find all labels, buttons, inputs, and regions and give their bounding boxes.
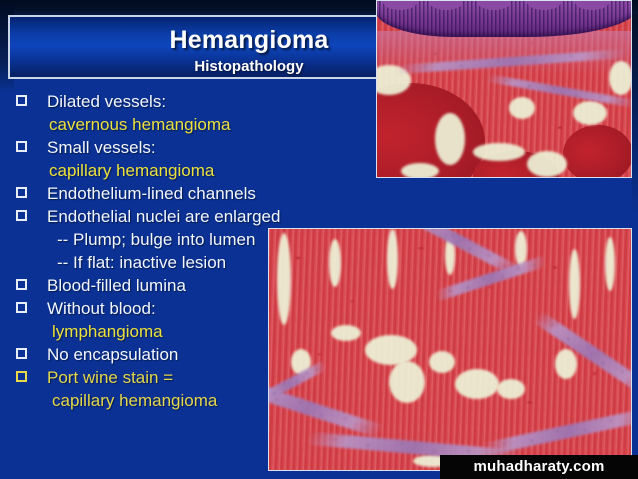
- vascular-lumen: [429, 351, 455, 373]
- list-item-label: Small vessels:: [47, 136, 156, 159]
- list-item: Endothelial nuclei are enlarged: [16, 205, 278, 228]
- list-sub-item-label: -- If flat: inactive lesion: [57, 251, 226, 274]
- slide: Hemangioma Histopathology Dilated vessel…: [0, 0, 638, 479]
- list-item: Endothelium-lined channels: [16, 182, 278, 205]
- list-item-label: Endothelial nuclei are enlarged: [47, 205, 280, 228]
- background-right-shadow: [632, 14, 638, 214]
- vascular-lumen: [573, 101, 607, 125]
- list-item-label: lymphangioma: [52, 320, 163, 343]
- vascular-lumen: [555, 349, 577, 379]
- vascular-lumen: [435, 113, 465, 165]
- vascular-lumen: [387, 229, 398, 289]
- list-sub-item: -- If flat: inactive lesion: [16, 251, 278, 274]
- list-item-label: cavernous hemangioma: [49, 113, 230, 136]
- list-item: No encapsulation: [16, 343, 278, 366]
- square-bullet-icon: [16, 95, 27, 106]
- histology-image-bottom: [268, 228, 632, 471]
- vascular-lumen: [527, 151, 567, 177]
- vascular-lumen: [509, 97, 535, 119]
- vascular-lumen: [389, 361, 425, 403]
- vascular-lumen: [609, 61, 632, 95]
- list-item: cavernous hemangioma: [16, 113, 278, 136]
- blood-lake: [563, 125, 632, 178]
- list-item-label: Endothelium-lined channels: [47, 182, 256, 205]
- vascular-lumen: [401, 163, 439, 178]
- list-sub-item: -- Plump; bulge into lumen: [16, 228, 278, 251]
- watermark-label: muhadharaty.com: [440, 455, 638, 479]
- square-bullet-icon: [16, 302, 27, 313]
- tissue-field: [269, 229, 631, 470]
- list-item: capillary hemangioma: [16, 159, 278, 182]
- list-sub-item-label: -- Plump; bulge into lumen: [57, 228, 255, 251]
- vascular-lumen: [473, 143, 525, 161]
- list-item: lymphangioma: [16, 320, 278, 343]
- square-bullet-icon: [16, 187, 27, 198]
- list-item: Blood-filled lumina: [16, 274, 278, 297]
- list-item-label: capillary hemangioma: [49, 159, 214, 182]
- square-bullet-icon: [16, 210, 27, 221]
- square-bullet-icon: [16, 279, 27, 290]
- vascular-lumen: [331, 325, 361, 341]
- square-bullet-icon: [16, 348, 27, 359]
- list-item: Small vessels:: [16, 136, 278, 159]
- tissue-field: [377, 1, 631, 177]
- list-item-label: Blood-filled lumina: [47, 274, 186, 297]
- vascular-lumen: [497, 379, 525, 399]
- watermark-bar: muhadharaty.com: [440, 455, 638, 479]
- vascular-lumen: [605, 237, 615, 291]
- square-bullet-icon: [16, 141, 27, 152]
- list-item-label: Without blood:: [47, 297, 156, 320]
- bullet-list: Dilated vessels: cavernous hemangioma Sm…: [16, 90, 278, 412]
- vascular-lumen: [329, 239, 341, 287]
- list-item-label: Dilated vessels:: [47, 90, 166, 113]
- list-item: Dilated vessels:: [16, 90, 278, 113]
- list-item-label: capillary hemangioma: [52, 389, 217, 412]
- vascular-lumen: [455, 369, 499, 399]
- list-item: Port wine stain =: [16, 366, 278, 389]
- square-bullet-icon: [16, 371, 27, 382]
- list-item: Without blood:: [16, 297, 278, 320]
- list-item: capillary hemangioma: [16, 389, 278, 412]
- histology-image-top: [376, 0, 632, 178]
- vascular-lumen: [569, 249, 580, 319]
- list-item-label: Port wine stain =: [47, 366, 173, 389]
- list-item-label: No encapsulation: [47, 343, 178, 366]
- vascular-lumen: [277, 233, 291, 325]
